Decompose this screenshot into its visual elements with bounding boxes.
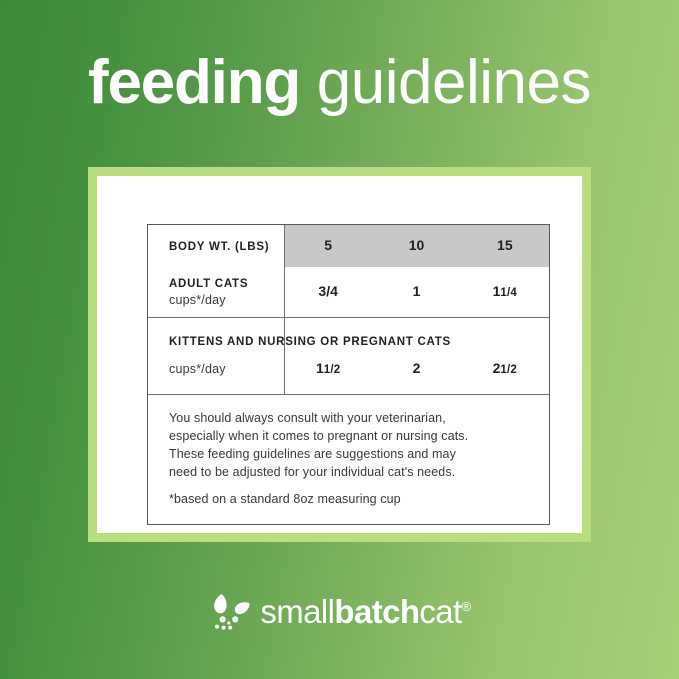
registered-trademark-icon: ®	[462, 599, 471, 614]
table-row: cups*/day 11/2 2 21/2	[148, 356, 549, 382]
kittens-label-wrap: KITTENS AND NURSING OR PREGNANT CATS	[148, 332, 549, 350]
adult-value-frac: 1/4	[500, 287, 517, 299]
adult-value-cell: 3/4	[284, 283, 372, 301]
note-line: especially when it comes to pregnant or …	[169, 427, 549, 445]
table-section-notes: You should always consult with your vete…	[148, 395, 549, 524]
column-divider	[284, 318, 285, 394]
adult-value-whole: 3/4	[318, 283, 337, 299]
body-weight-label: BODY WT. (LBS)	[169, 241, 269, 253]
note-line: These feeding guidelines are suggestions…	[169, 445, 549, 463]
brand-logo: smallbatchcat®	[0, 588, 679, 634]
leaf-cat-face-icon	[208, 592, 254, 634]
kittens-value: 2	[413, 360, 421, 376]
adult-cats-label: ADULT CATS	[169, 278, 284, 290]
note-line: need to be adjusted for your individual …	[169, 463, 549, 481]
adult-value: 1	[413, 283, 421, 299]
brand-part-cat: cat	[419, 593, 461, 630]
kittens-value-cell: 21/2	[461, 360, 549, 378]
footnote: *based on a standard 8oz measuring cup	[169, 490, 549, 508]
kittens-value-frac: 1/2	[324, 364, 341, 376]
table-row: ADULT CATS cups*/day 3/4 1 11/4	[148, 267, 549, 317]
adult-value: 3/4	[318, 283, 337, 299]
table-section-adult: BODY WT. (LBS) 5 10 15 ADULT CATS cups*/…	[148, 225, 549, 317]
column-divider	[284, 225, 285, 317]
page-title: feeding guidelines	[0, 52, 679, 114]
adult-value-cell: 1	[372, 283, 460, 301]
kittens-value-frac: 1/2	[500, 364, 517, 376]
adult-cats-unit: cups*/day	[169, 293, 284, 307]
body-weight-label-cell: BODY WT. (LBS)	[148, 237, 284, 255]
kittens-label: KITTENS AND NURSING OR PREGNANT CATS	[169, 336, 451, 348]
kittens-unit-cell: cups*/day	[148, 360, 284, 378]
card-frame: BODY WT. (LBS) 5 10 15 ADULT CATS cups*/…	[88, 167, 591, 542]
adult-value-cell: 11/4	[461, 283, 549, 301]
adult-value: 11/4	[493, 283, 517, 299]
weight-value: 5	[324, 237, 332, 253]
brand-part-batch: batch	[334, 593, 419, 630]
weight-value: 15	[497, 237, 513, 253]
feeding-guidelines-poster: feeding guidelines BODY WT. (LBS) 5 10	[0, 0, 679, 679]
card-inner: BODY WT. (LBS) 5 10 15 ADULT CATS cups*/…	[97, 176, 582, 533]
weight-value: 10	[409, 237, 425, 253]
note-line: You should always consult with your vete…	[169, 409, 549, 427]
title-light-part: guidelines	[300, 48, 591, 117]
adult-values: 3/4 1 11/4	[284, 283, 549, 301]
kittens-value: 21/2	[493, 360, 517, 376]
brand-part-small: small	[260, 593, 334, 630]
adult-value-whole: 1	[413, 283, 421, 299]
title-text: feeding guidelines	[88, 52, 591, 114]
kittens-values: 11/2 2 21/2	[284, 360, 549, 378]
adult-cats-label-cell: ADULT CATS cups*/day	[148, 278, 284, 307]
kittens-value-cell: 11/2	[284, 360, 372, 378]
kittens-value: 11/2	[316, 360, 340, 376]
weight-values: 5 10 15	[284, 237, 549, 255]
feeding-table: BODY WT. (LBS) 5 10 15 ADULT CATS cups*/…	[147, 224, 550, 525]
table-section-kittens: KITTENS AND NURSING OR PREGNANT CATS cup…	[148, 318, 549, 394]
kittens-value-whole: 1	[316, 360, 324, 376]
brand-wordmark: smallbatchcat®	[260, 595, 470, 628]
kittens-value-cell: 2	[372, 360, 460, 378]
title-bold-part: feeding	[88, 48, 300, 117]
kittens-value-whole: 2	[413, 360, 421, 376]
kittens-unit: cups*/day	[169, 362, 226, 376]
